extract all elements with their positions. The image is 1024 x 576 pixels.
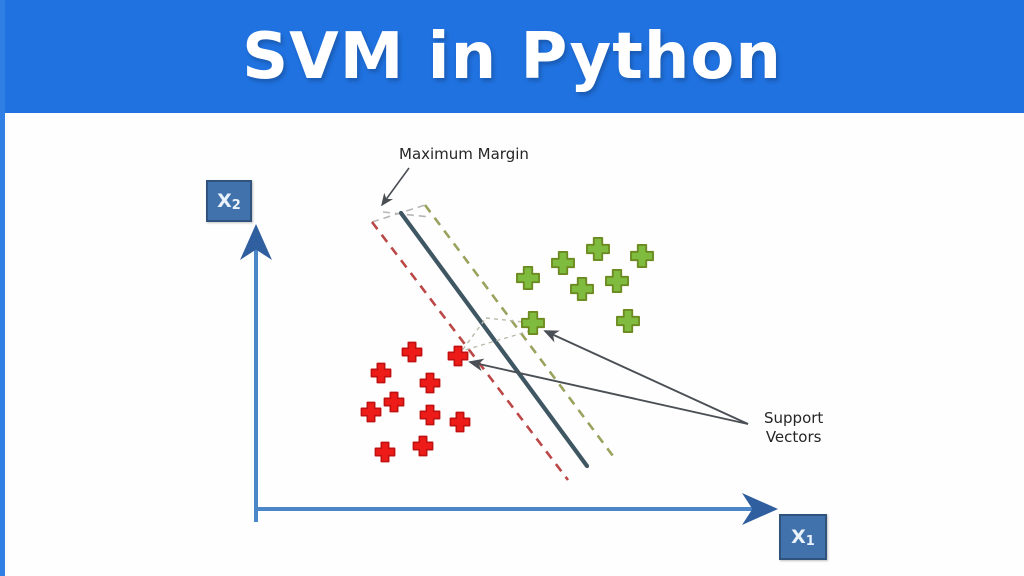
data-point-marker xyxy=(371,363,390,382)
data-point-marker xyxy=(517,267,539,289)
data-point-marker xyxy=(420,373,439,392)
data-point-marker xyxy=(384,392,403,411)
svm-diagram xyxy=(0,0,1024,576)
support-vectors-label-line1: Support xyxy=(764,409,823,428)
data-point-marker xyxy=(617,310,639,332)
axis-label-x1-text: X xyxy=(791,526,806,548)
data-point-marker xyxy=(631,245,653,267)
support-vector-marker xyxy=(448,346,467,365)
data-point-marker xyxy=(375,442,394,461)
data-point-marker xyxy=(450,412,469,431)
axis-label-x2-subscript: 2 xyxy=(232,198,241,213)
data-point-marker xyxy=(587,238,609,260)
maximum-margin-label: Maximum Margin xyxy=(399,145,529,164)
data-point-marker xyxy=(420,405,439,424)
data-point-marker xyxy=(413,436,432,455)
support-vector-arrow-green xyxy=(545,331,748,424)
left-accent-strip xyxy=(0,0,5,576)
support-vector-arrow-red xyxy=(470,362,748,424)
data-point-marker xyxy=(606,270,628,292)
axis-label-box-x1[interactable]: X1 xyxy=(779,514,827,560)
margin-line-negative xyxy=(372,222,568,480)
support-vectors-label-line2: Vectors xyxy=(764,428,823,447)
axis-label-x1-subscript: 1 xyxy=(806,534,815,549)
axis-lines xyxy=(256,232,770,522)
maximum-margin-leader-arrow xyxy=(382,168,409,205)
support-vector-leader-arrows xyxy=(470,331,748,424)
data-points-layer xyxy=(361,238,653,462)
data-point-marker xyxy=(361,402,380,421)
data-point-marker xyxy=(571,278,593,300)
data-point-marker xyxy=(552,252,574,274)
hyperplane-line xyxy=(401,213,587,466)
support-vectors-label: Support Vectors xyxy=(764,409,823,447)
axis-label-x2-text: X xyxy=(217,190,232,212)
slide-canvas: SVM in Python xyxy=(0,0,1024,576)
data-point-marker xyxy=(402,342,421,361)
axis-label-box-x2[interactable]: X2 xyxy=(206,180,252,222)
support-vector-marker xyxy=(522,312,544,334)
